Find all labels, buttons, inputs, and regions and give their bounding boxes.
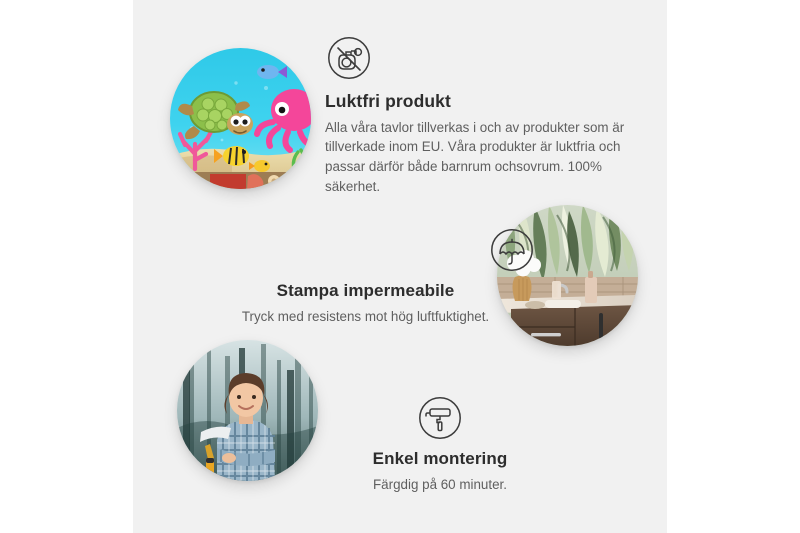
feature-easy-mounting: Enkel montering Färgdig på 60 minuter. — [305, 396, 575, 495]
feature-title: Enkel montering — [305, 448, 575, 470]
feature-body: Alla våra tavlor tillverkas i och av pro… — [325, 118, 625, 197]
feature-odourless: Luktfri produkt Alla våra tavlor tillver… — [325, 36, 625, 197]
feature-title: Stampa impermeabile — [193, 280, 538, 302]
woman-with-paint-roller-photo[interactable] — [177, 340, 318, 481]
umbrella-icon — [490, 228, 534, 272]
underwater-kids-mural-photo[interactable] — [170, 48, 311, 189]
content-panel: Luktfri produkt Alla våra tavlor tillver… — [133, 0, 667, 533]
feature-title: Luktfri produkt — [325, 90, 625, 113]
feature-water-resistant: Stampa impermeabile Tryck med resistens … — [193, 228, 538, 327]
feature-body: Färgdig på 60 minuter. — [305, 475, 575, 495]
paint-roller-icon — [418, 396, 462, 440]
no-spray-bottle-icon — [327, 36, 371, 80]
screenshot-stage: Luktfri produkt Alla våra tavlor tillver… — [0, 0, 800, 533]
feature-body: Tryck med resistens mot hög luftfuktighe… — [193, 307, 538, 327]
